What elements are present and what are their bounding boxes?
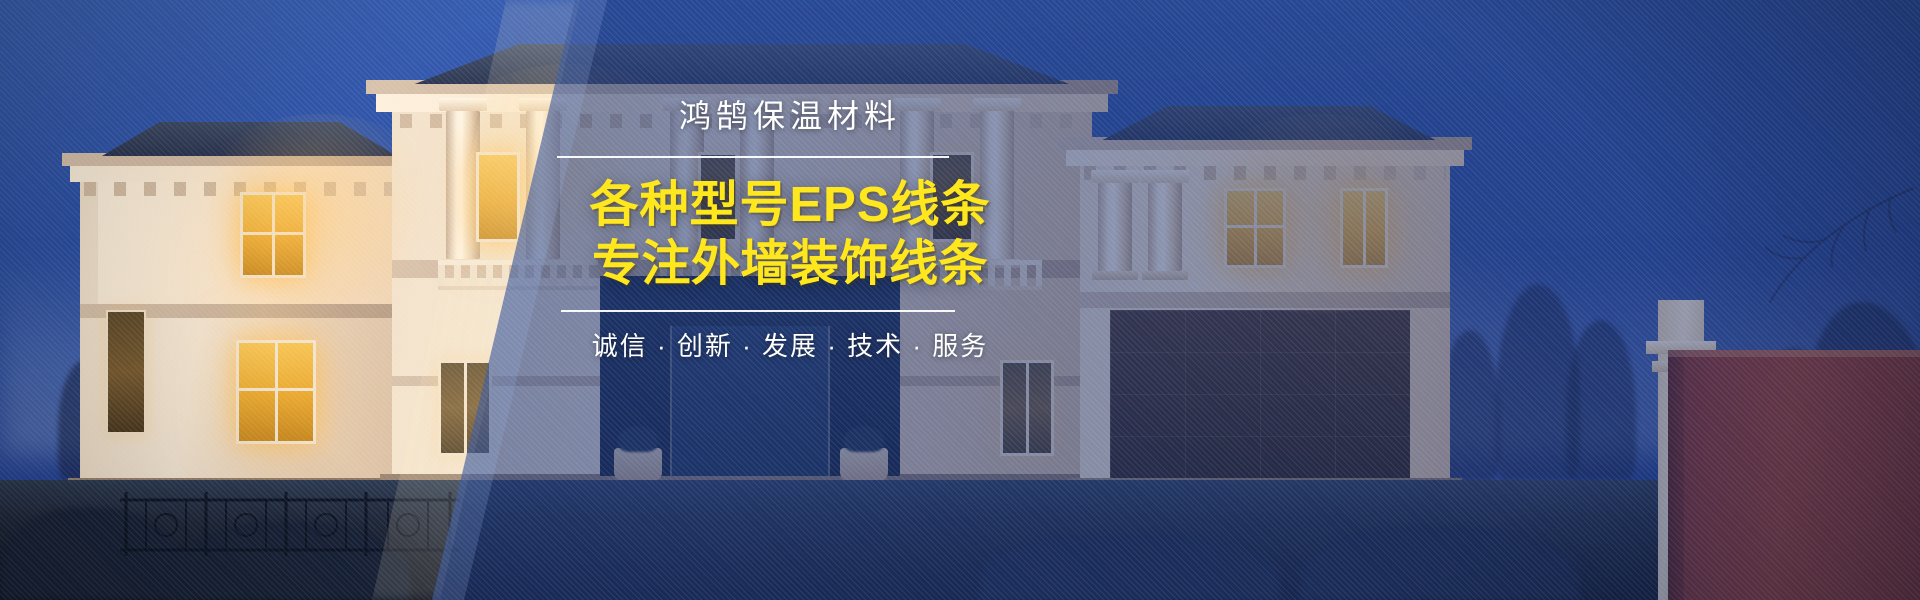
headline-line-2: 专注外墙装饰线条: [575, 235, 1005, 294]
left-wing-roof: [66, 122, 426, 156]
window: [106, 310, 146, 434]
divider-bottom: [561, 310, 955, 312]
banner-copy-block: 鸿鹄保温材料 各种型号EPS线条 专注外墙装饰线条 诚信 · 创新 · 发展 ·…: [575, 96, 1005, 363]
brand-name: 鸿鹄保温材料: [575, 96, 1005, 136]
window: [236, 340, 316, 444]
headline-line-1: 各种型号EPS线条: [575, 176, 1005, 235]
promo-banner: 鸿鹄保温材料 各种型号EPS线条 专注外墙装饰线条 诚信 · 创新 · 发展 ·…: [0, 0, 1920, 600]
window: [240, 192, 306, 278]
divider-top: [557, 156, 949, 158]
tagline: 诚信 · 创新 · 发展 · 技术 · 服务: [575, 326, 1005, 363]
